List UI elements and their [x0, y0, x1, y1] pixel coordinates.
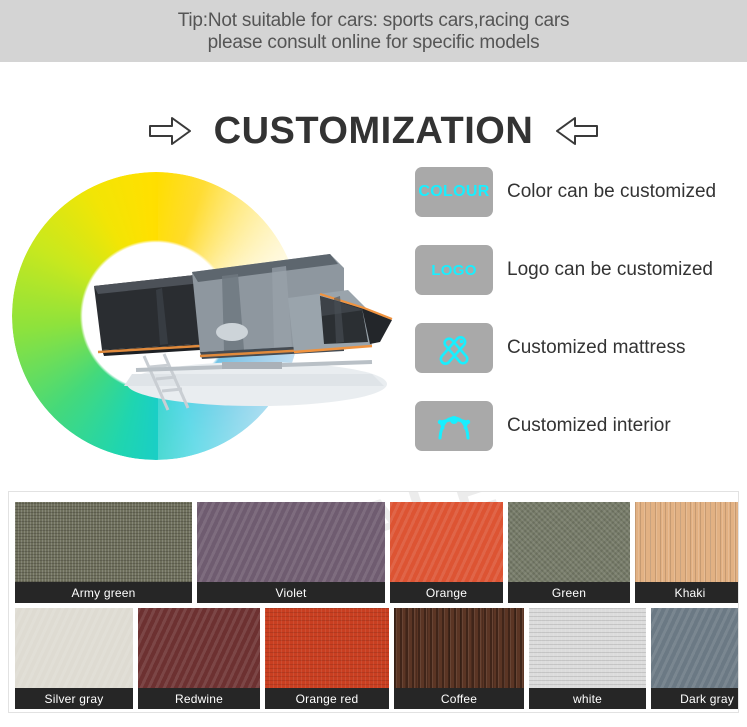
swatch-army-green[interactable]: Army green [15, 502, 192, 603]
swatch-label: Orange [390, 582, 503, 603]
swatch-label: Green [508, 582, 630, 603]
swatch-white[interactable]: white [529, 608, 646, 709]
swatch-violet[interactable]: Violet [197, 502, 385, 603]
logo-text-icon: LOGO [415, 245, 493, 295]
tip-line-2: please consult online for specific model… [208, 32, 540, 54]
swatch-coffee[interactable]: Coffee [394, 608, 524, 709]
swatch-label: white [529, 688, 646, 709]
arrow-left-outline-icon [555, 114, 599, 148]
tile-label-colour: COLOUR [418, 183, 489, 201]
fabric-swatch-panel: SALE Army greenVioletOrangeGreenKhaki Si… [8, 491, 739, 713]
swatch-label: Silver gray [15, 688, 133, 709]
feature-row-interior[interactable]: Customized interior [415, 401, 747, 451]
swatch-green[interactable]: Green [508, 502, 630, 603]
swatch-redwine[interactable]: Redwine [138, 608, 260, 709]
showcase-section: COLOUR Color can be customized LOGO Logo… [0, 162, 747, 480]
mattress-tile [415, 323, 493, 373]
swatch-orange-red[interactable]: Orange red [265, 608, 389, 709]
swatch-label: Khaki [635, 582, 739, 603]
feature-label-colour: Color can be customized [507, 181, 716, 203]
feature-row-colour[interactable]: COLOUR Color can be customized [415, 167, 747, 217]
swatch-orange[interactable]: Orange [390, 502, 503, 603]
rooftop-tents-illustration [72, 224, 402, 414]
swatch-label: Coffee [394, 688, 524, 709]
tip-banner: Tip:Not suitable for cars: sports cars,r… [0, 0, 747, 62]
page-title-row: CUSTOMIZATION [0, 100, 747, 162]
feature-label-interior: Customized interior [507, 415, 671, 437]
colour-text-icon: COLOUR [415, 167, 493, 217]
interior-tile [415, 401, 493, 451]
swatch-label: Violet [197, 582, 385, 603]
feature-label-mattress: Customized mattress [507, 337, 685, 359]
swatch-label: Orange red [265, 688, 389, 709]
tip-line-1: Tip:Not suitable for cars: sports cars,r… [178, 10, 570, 32]
swatch-khaki[interactable]: Khaki [635, 502, 739, 603]
swatch-dark-gray[interactable]: Dark gray [651, 608, 739, 709]
swatch-label: Army green [15, 582, 192, 603]
feature-row-mattress[interactable]: Customized mattress [415, 323, 747, 373]
swatch-label: Redwine [138, 688, 260, 709]
arrow-right-outline-icon [148, 114, 192, 148]
swatch-row-top: Army greenVioletOrangeGreenKhaki [9, 502, 738, 608]
tile-label-logo: LOGO [431, 262, 476, 279]
page-title: CUSTOMIZATION [214, 110, 534, 153]
feature-row-logo[interactable]: LOGO Logo can be customized [415, 245, 747, 295]
feature-label-logo: Logo can be customized [507, 259, 713, 281]
swatch-row-bottom: Silver grayRedwineOrange redCoffeewhiteD… [9, 608, 738, 713]
feature-list: COLOUR Color can be customized LOGO Logo… [415, 167, 747, 479]
swatch-label: Dark gray [651, 688, 739, 709]
mattress-icon [434, 331, 474, 365]
swatch-silver-gray[interactable]: Silver gray [15, 608, 133, 709]
tent-canopy-icon [434, 409, 474, 443]
